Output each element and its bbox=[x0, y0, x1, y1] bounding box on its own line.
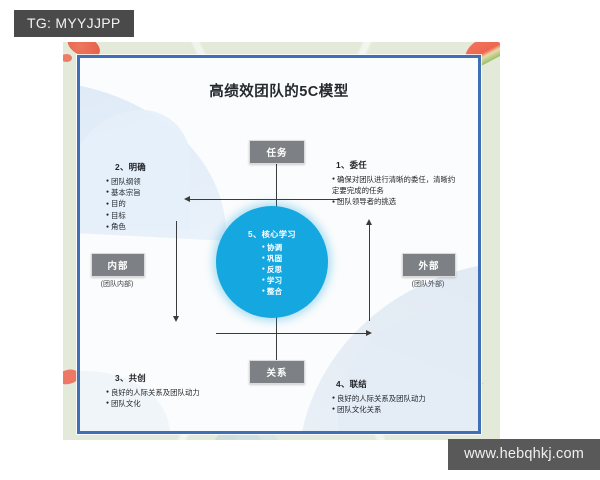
block-item: 团队文化 bbox=[106, 398, 206, 409]
block-item: 良好的人际关系及团队动力 bbox=[106, 387, 206, 398]
core-learning-item: 反思 bbox=[262, 264, 282, 275]
block-item: 基本宗旨 bbox=[106, 187, 196, 198]
connector-task-to-circle bbox=[276, 162, 277, 208]
text-block-wei-ren: 1、委任 确保对团队进行清晰的委任，清晰约定要完成的任务 团队领导者的挑选 bbox=[332, 159, 460, 208]
block-item: 确保对团队进行清晰的委任，清晰约定要完成的任务 bbox=[332, 174, 460, 197]
connector-circle-to-relation bbox=[276, 316, 277, 360]
node-external-caption: (团队外部) bbox=[393, 279, 463, 289]
diagram-panel: 高绩效团队的5C模型 任务 关系 内部 (团队内部) 外部 (团队外部) 5、核… bbox=[77, 55, 481, 434]
node-relation[interactable]: 关系 bbox=[249, 360, 305, 384]
block-item: 团队文化关系 bbox=[332, 404, 464, 415]
node-internal[interactable]: 内部 bbox=[91, 253, 145, 277]
telegram-watermark: TG: MYYJJPP bbox=[14, 10, 134, 37]
block-heading: 1、委任 bbox=[332, 159, 460, 171]
block-item: 良好的人际关系及团队动力 bbox=[332, 393, 464, 404]
core-learning-title: 5、核心学习 bbox=[248, 228, 296, 240]
arrow-head-right-up bbox=[366, 219, 372, 225]
block-heading: 4、联结 bbox=[332, 378, 464, 390]
block-item: 角色 bbox=[106, 221, 196, 232]
node-external[interactable]: 外部 bbox=[402, 253, 456, 277]
node-task[interactable]: 任务 bbox=[249, 140, 305, 164]
arrow-line-top bbox=[190, 199, 340, 200]
url-watermark: www.hebqhkj.com bbox=[448, 439, 600, 470]
text-block-gong-chuang: 3、共创 良好的人际关系及团队动力 团队文化 bbox=[106, 372, 206, 409]
arrow-head-left-down bbox=[173, 316, 179, 322]
block-heading: 2、明确 bbox=[106, 161, 196, 173]
core-learning-item: 学习 bbox=[262, 275, 282, 286]
text-block-ming-que: 2、明确 团队纲领 基本宗旨 目的 目标 角色 bbox=[106, 161, 196, 233]
text-block-lian-jie: 4、联结 良好的人际关系及团队动力 团队文化关系 bbox=[332, 378, 464, 415]
block-item: 团队纲领 bbox=[106, 176, 196, 187]
arrow-line-bottom bbox=[216, 333, 368, 334]
core-learning-circle[interactable]: 5、核心学习 协调 巩固 反思 学习 整合 bbox=[216, 206, 328, 318]
block-item: 团队领导者的挑选 bbox=[332, 196, 460, 207]
arrow-line-right bbox=[369, 225, 370, 321]
block-item: 目的 bbox=[106, 198, 196, 209]
node-internal-caption: (团队内部) bbox=[82, 279, 152, 289]
slide-canvas: 高绩效团队的5C模型 任务 关系 内部 (团队内部) 外部 (团队外部) 5、核… bbox=[63, 42, 500, 440]
core-learning-item: 巩固 bbox=[262, 253, 282, 264]
block-item: 目标 bbox=[106, 210, 196, 221]
core-learning-item: 整合 bbox=[262, 286, 282, 297]
block-heading: 3、共创 bbox=[106, 372, 206, 384]
page-title: 高绩效团队的5C模型 bbox=[80, 80, 478, 101]
blue-blob-bottom-right-inner bbox=[338, 311, 481, 434]
arrow-head-bottom-right bbox=[366, 330, 372, 336]
arrow-line-left bbox=[176, 221, 177, 317]
core-learning-item: 协调 bbox=[262, 242, 282, 253]
